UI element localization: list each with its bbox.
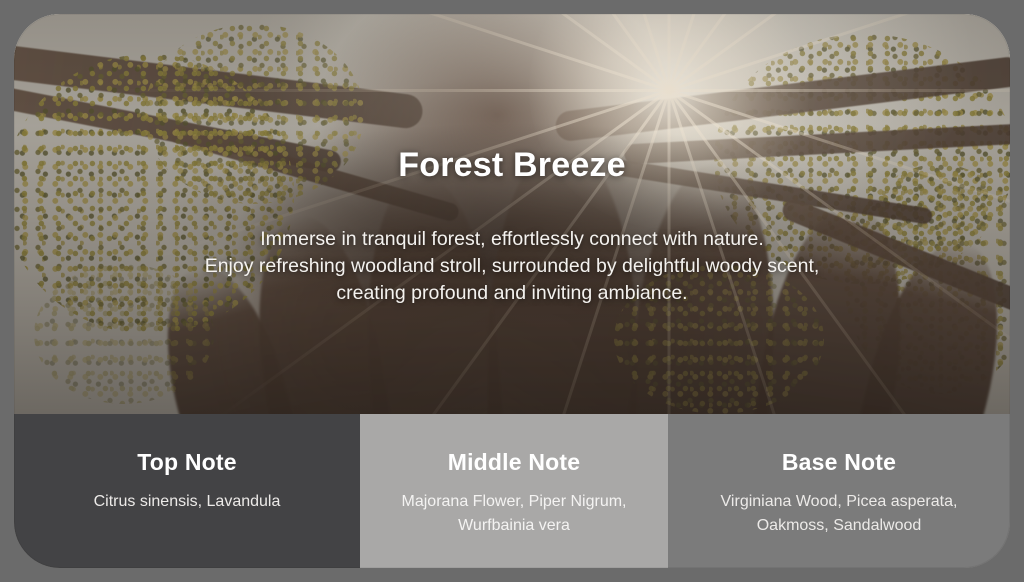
note-ingredients-base: Virginiana Wood, Picea asperata, Oakmoss… <box>668 490 1010 538</box>
hero-description: Immerse in tranquil forest, effortlessly… <box>14 226 1010 307</box>
fragrance-notes-strip: Top Note Citrus sinensis, Lavandula Midd… <box>14 414 1010 568</box>
note-panel-middle[interactable]: Middle Note Majorana Flower, Piper Nigru… <box>360 414 668 568</box>
page-title: Forest Breeze <box>14 146 1010 185</box>
page-background: Forest Breeze Immerse in tranquil forest… <box>0 0 1024 582</box>
note-ingredients-base-line-2: Oakmoss, Sandalwood <box>757 517 922 534</box>
note-ingredients-middle-line-2: Wurfbainia vera <box>458 517 570 534</box>
note-panel-base[interactable]: Base Note Virginiana Wood, Picea asperat… <box>668 414 1010 568</box>
note-ingredients-middle-line-1: Majorana Flower, Piper Nigrum, <box>402 493 627 510</box>
note-ingredients-top: Citrus sinensis, Lavandula <box>14 490 360 514</box>
description-line-3: creating profound and inviting ambiance. <box>14 280 1010 307</box>
note-title-base: Base Note <box>668 448 1010 476</box>
note-ingredients-base-line-1: Virginiana Wood, Picea asperata, <box>721 493 958 510</box>
fragrance-card: Forest Breeze Immerse in tranquil forest… <box>14 14 1010 568</box>
note-panel-top[interactable]: Top Note Citrus sinensis, Lavandula <box>14 414 360 568</box>
note-title-top: Top Note <box>14 448 360 476</box>
hero-text-block: Forest Breeze Immerse in tranquil forest… <box>14 14 1010 414</box>
note-title-middle: Middle Note <box>360 448 668 476</box>
note-ingredients-middle: Majorana Flower, Piper Nigrum, Wurfbaini… <box>360 490 668 538</box>
description-line-1: Immerse in tranquil forest, effortlessly… <box>14 226 1010 253</box>
description-line-2: Enjoy refreshing woodland stroll, surrou… <box>14 253 1010 280</box>
